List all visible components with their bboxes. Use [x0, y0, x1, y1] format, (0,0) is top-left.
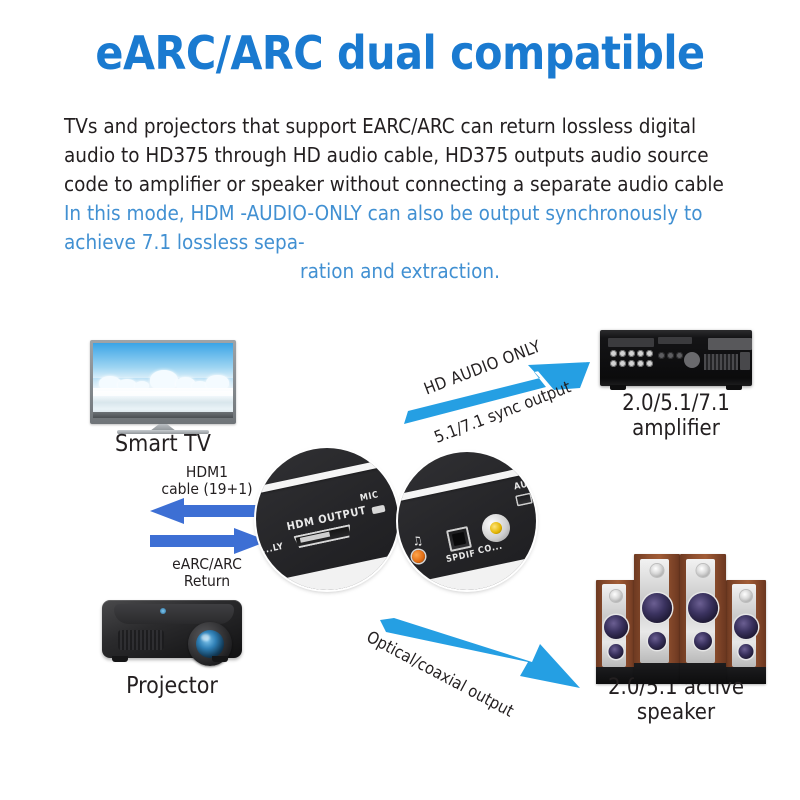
smart-tv-label: Smart TV — [70, 432, 256, 458]
projector-foot-right — [212, 656, 228, 662]
description-blue-last-line: ration and extraction. — [64, 257, 736, 286]
amplifier-illustration — [600, 330, 752, 386]
projector-vent — [118, 630, 164, 650]
projector-lens — [196, 630, 224, 658]
smart-tv-illustration — [90, 340, 236, 424]
tv-bottom-bezel — [93, 412, 233, 418]
description-blue-text: In this mode, HDM -AUDIO-ONLY can also b… — [64, 201, 703, 254]
speaker-tower — [596, 580, 636, 684]
projector-top-shell — [114, 604, 234, 624]
speaker-tower — [726, 580, 766, 684]
amplifier-chassis — [600, 330, 752, 386]
hdmi-port-circle: ...LY HDM OUTPUT MIC — [256, 448, 398, 590]
projector-illustration — [96, 590, 248, 668]
projector-label: Projector — [74, 674, 270, 700]
amplifier-rear-panel — [608, 336, 744, 376]
tv-scene-glare — [93, 391, 233, 396]
hdmi-arrow-right-icon — [150, 528, 268, 554]
projector-indicator-led — [160, 608, 166, 614]
hdmi-arrow-left-icon — [150, 498, 268, 524]
projector-body — [102, 600, 242, 658]
device-port-closeups: ...LY HDM OUTPUT MIC ♫ SPDIF CO... AU... — [256, 440, 556, 590]
description-black-text: TVs and projectors that support EARC/ARC… — [64, 114, 724, 196]
projector-foot-left — [112, 656, 128, 662]
tv-scene-trees — [93, 370, 233, 390]
speaker-tower — [680, 554, 726, 684]
page-title: eARC/ARC dual compatible — [0, 30, 800, 76]
speaker-tower — [634, 554, 680, 684]
amplifier-label: 2.0/5.1/7.1 amplifier — [588, 392, 764, 441]
description-paragraph: TVs and projectors that support EARC/ARC… — [64, 112, 736, 286]
tv-frame — [90, 340, 236, 424]
audio-port-circle: ♫ SPDIF CO... AU... — [398, 452, 536, 590]
infographic-page: eARC/ARC dual compatible TVs and project… — [0, 0, 800, 800]
speaker-illustration — [596, 548, 768, 684]
spdif-connector — [446, 526, 472, 552]
tv-screen — [93, 343, 233, 418]
